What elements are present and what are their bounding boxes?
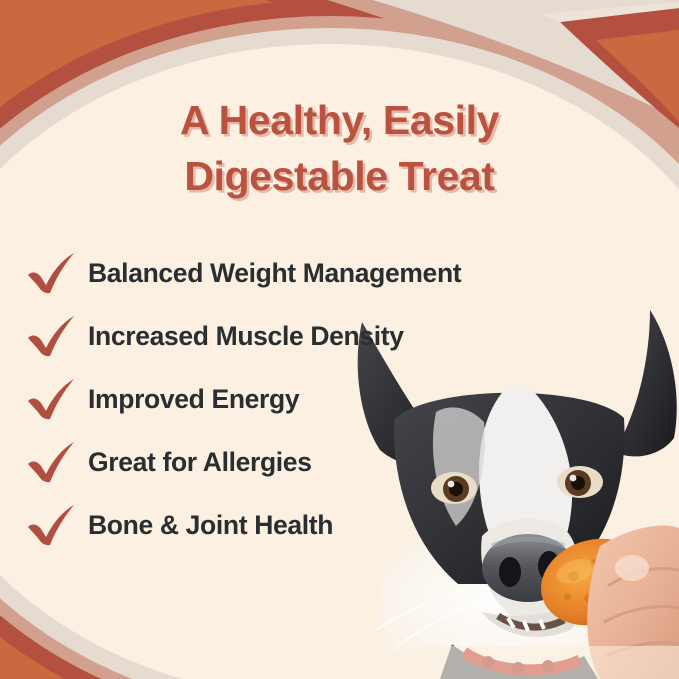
list-item: Improved Energy [24, 367, 644, 430]
list-item: Great for Allergies [24, 430, 644, 493]
list-item-label: Great for Allergies [88, 447, 312, 477]
photo-bottom-fade [332, 646, 679, 679]
list-item-label: Improved Energy [88, 384, 299, 414]
check-icon [24, 440, 80, 484]
list-item: Increased Muscle Density [24, 304, 644, 367]
list-item-label: Bone & Joint Health [88, 510, 333, 540]
list-item: Balanced Weight Management [24, 241, 644, 304]
benefits-list: Balanced Weight Management Increased Mus… [24, 241, 644, 556]
hand-thumbnail [615, 555, 649, 581]
list-item-label: Balanced Weight Management [88, 258, 461, 288]
list-item-label: Increased Muscle Density [88, 321, 404, 351]
promo-poster: A Healthy, Easily Digestable Treat [0, 0, 679, 679]
check-icon [24, 503, 80, 547]
list-item: Bone & Joint Health [24, 493, 644, 556]
check-icon [24, 314, 80, 358]
check-icon [24, 377, 80, 421]
check-icon [24, 251, 80, 295]
dog-nostril-left [499, 557, 521, 587]
